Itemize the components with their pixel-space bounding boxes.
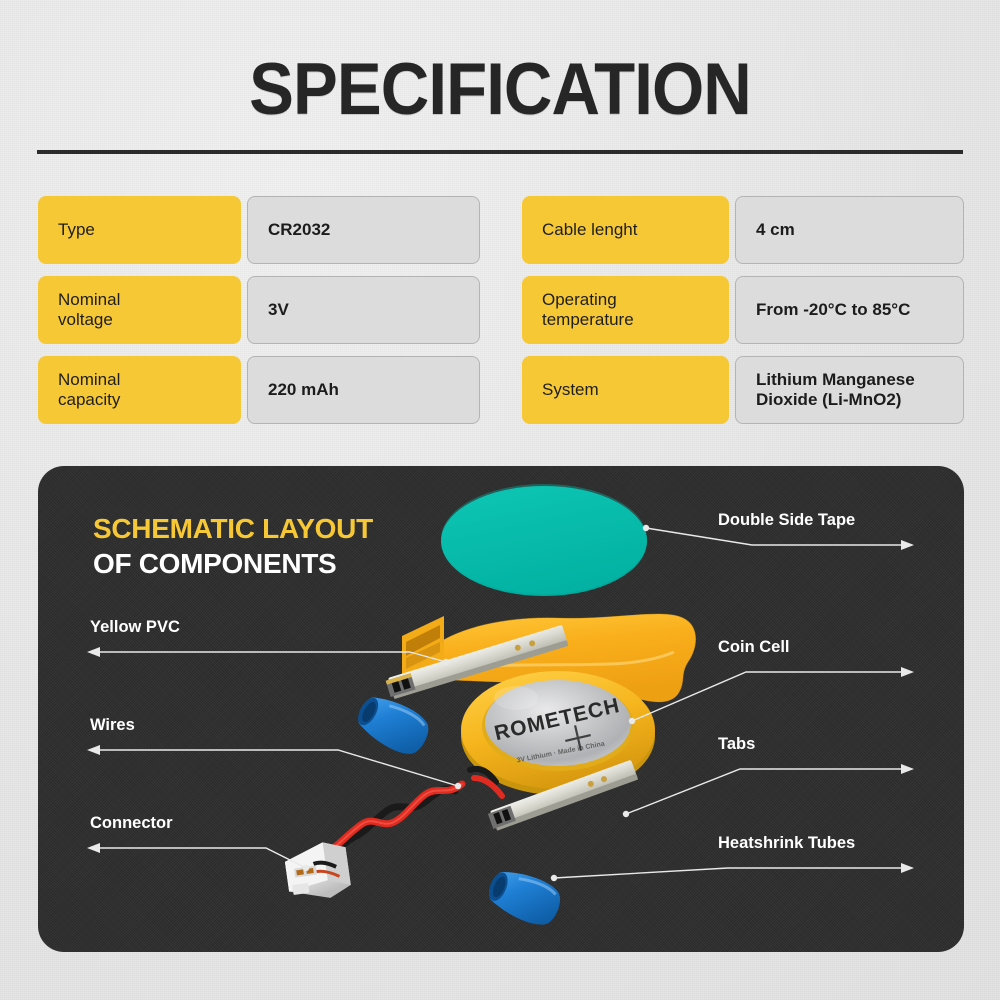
spec-value-nominal-voltage: 3V (247, 276, 480, 344)
callout-tabs: Tabs (718, 735, 755, 754)
specification-table: Type CR2032 Nominal voltage 3V Nominal c… (38, 196, 964, 424)
spec-label-type: Type (38, 196, 241, 264)
callout-yellow-pvc: Yellow PVC (90, 618, 180, 637)
callout-connector: Connector (90, 814, 173, 833)
spec-row-nominal-capacity: Nominal capacity 220 mAh (38, 356, 480, 424)
spec-label-line2: voltage (58, 310, 113, 329)
spec-value-line1: Lithium Manganese (756, 370, 915, 389)
spec-label-line2: capacity (58, 390, 120, 409)
spec-row-cable-length: Cable lenght 4 cm (522, 196, 964, 264)
spec-row-system: System Lithium Manganese Dioxide (Li-MnO… (522, 356, 964, 424)
spec-label-nominal-voltage: Nominal voltage (38, 276, 241, 344)
page-title: SPECIFICATION (40, 48, 960, 131)
callout-double-side-tape: Double Side Tape (718, 511, 855, 530)
spec-label-line1: Nominal (58, 370, 120, 389)
spec-row-type: Type CR2032 (38, 196, 480, 264)
spec-value-line2: Dioxide (Li-MnO2) (756, 390, 901, 409)
spec-label-system: System (522, 356, 729, 424)
spec-label-line1: Operating (542, 290, 617, 309)
spec-row-nominal-voltage: Nominal voltage 3V (38, 276, 480, 344)
spec-row-operating-temperature: Operating temperature From -20°C to 85°C (522, 276, 964, 344)
callout-heatshrink-tubes: Heatshrink Tubes (718, 834, 855, 853)
spec-label-line1: Nominal (58, 290, 120, 309)
spec-column-left: Type CR2032 Nominal voltage 3V Nominal c… (38, 196, 480, 424)
schematic-panel: SCHEMATIC LAYOUT OF COMPONENTS (38, 466, 964, 952)
callout-coin-cell: Coin Cell (718, 638, 790, 657)
spec-column-right: Cable lenght 4 cm Operating temperature … (522, 196, 964, 424)
spec-label-line2: temperature (542, 310, 634, 329)
spec-value-type: CR2032 (247, 196, 480, 264)
spec-value-cable-length: 4 cm (735, 196, 964, 264)
spec-value-system: Lithium Manganese Dioxide (Li-MnO2) (735, 356, 964, 424)
callout-wires: Wires (90, 716, 135, 735)
title-divider (37, 150, 963, 154)
spec-label-operating-temperature: Operating temperature (522, 276, 729, 344)
spec-label-nominal-capacity: Nominal capacity (38, 356, 241, 424)
leader-lines (38, 466, 964, 952)
spec-label-cable-length: Cable lenght (522, 196, 729, 264)
spec-value-nominal-capacity: 220 mAh (247, 356, 480, 424)
spec-value-operating-temperature: From -20°C to 85°C (735, 276, 964, 344)
